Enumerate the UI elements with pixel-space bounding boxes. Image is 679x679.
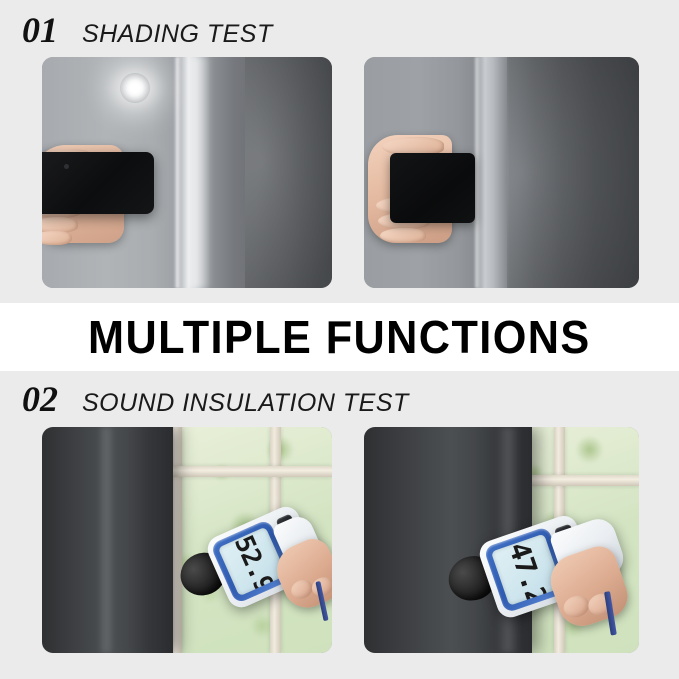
- smartphone-blocked: [390, 153, 475, 223]
- meter-reading-left: 52.9: [228, 531, 277, 593]
- curtain-highlight: [98, 427, 114, 653]
- section-number-01: 01: [22, 12, 58, 48]
- panel-sheen: [184, 57, 213, 288]
- panel-fold-shadow: [245, 57, 332, 288]
- panel-seam: [174, 57, 181, 288]
- headline-text: MULTIPLE FUNCTIONS: [88, 310, 591, 364]
- section-number-02: 02: [22, 381, 58, 417]
- flashlight-beam: [120, 73, 150, 103]
- photo-shading-test-after: [364, 57, 639, 288]
- section-heading-01: 01 SHADING TEST: [0, 12, 273, 48]
- finger: [42, 231, 72, 245]
- section-title-01: SHADING TEST: [82, 22, 273, 47]
- section-title-02: SOUND INSULATION TEST: [82, 391, 409, 416]
- finger: [380, 228, 426, 243]
- panel-fold-shadow: [507, 57, 639, 288]
- blackout-curtain: [42, 427, 173, 653]
- meter-reading-right: 47.2: [502, 538, 552, 604]
- section-heading-02: 02 SOUND INSULATION TEST: [0, 381, 409, 417]
- smartphone: [42, 152, 154, 214]
- photo-shading-test-before: [42, 57, 332, 288]
- camera-lens-icon: [64, 164, 69, 169]
- headline-banner: MULTIPLE FUNCTIONS: [0, 303, 679, 371]
- photo-sound-test-window: 52.9 Sound Level Meter: [42, 427, 332, 653]
- product-infographic: 01 SHADING TEST: [0, 0, 679, 679]
- photo-sound-test-curtain: 47.2 Sound Level Meter: [364, 427, 639, 653]
